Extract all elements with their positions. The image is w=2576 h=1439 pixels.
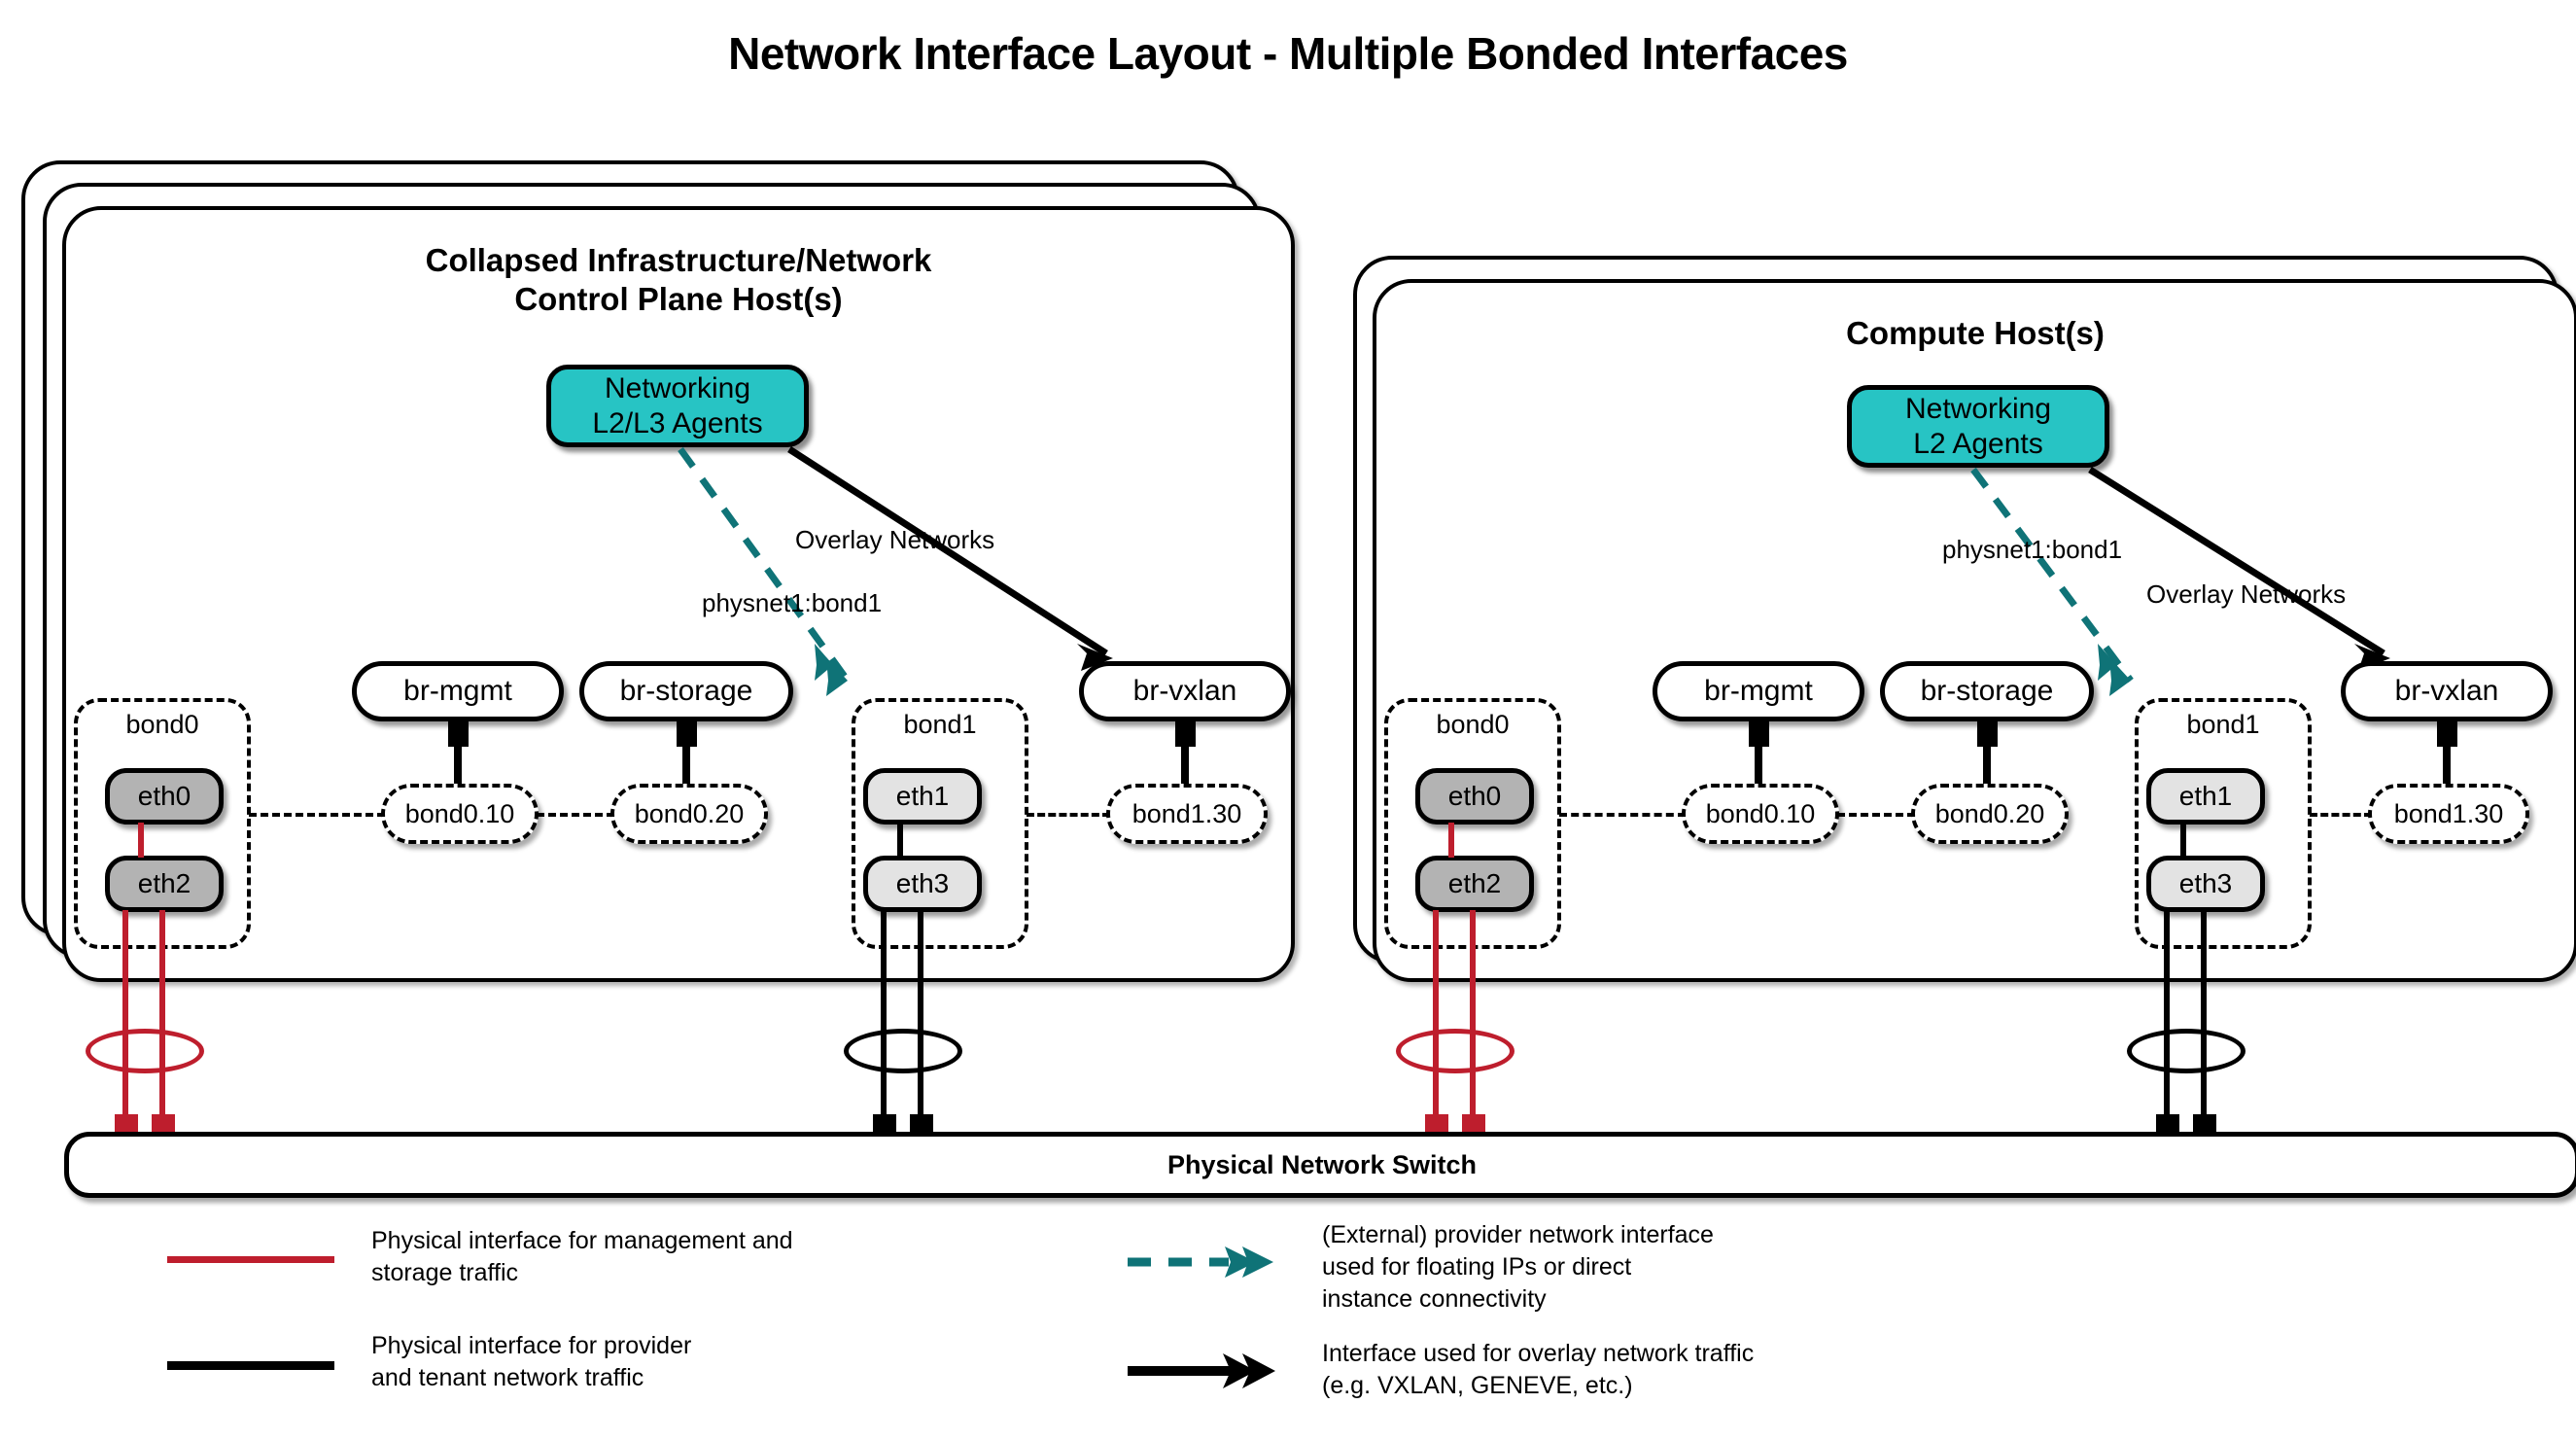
- vlan-bond0-20-right[interactable]: bond0.20: [1911, 784, 2069, 844]
- bridge-br-vxlan-right[interactable]: br-vxlan: [2341, 661, 2553, 721]
- bridge-br-mgmt-right[interactable]: br-mgmt: [1653, 661, 1864, 721]
- edge-label-provider-right: physnet1:bond1: [1942, 535, 2122, 565]
- edge-label-overlay-right: Overlay Networks: [2146, 579, 2346, 610]
- bond-group-label-bond1-right: bond1: [2139, 710, 2308, 740]
- eth-eth1-right[interactable]: eth1: [2146, 768, 2265, 825]
- legend-swatch-solid-black-arrow: [1128, 1351, 1322, 1390]
- legend-swatch-dashed-teal-arrow: [1128, 1243, 1322, 1281]
- legend-swatch-solid-red: [167, 1256, 334, 1263]
- vlan-bond0-10-right[interactable]: bond0.10: [1682, 784, 1839, 844]
- cable-bundle-loop-bond0-right: [1396, 1029, 1514, 1073]
- legend-text-external-provider: (External) provider network interface us…: [1322, 1219, 1866, 1316]
- vlan-bond1-30-right[interactable]: bond1.30: [2368, 784, 2529, 844]
- overlay-edge-line-right: [2090, 470, 2384, 653]
- eth-eth0-right[interactable]: eth0: [1415, 768, 1534, 825]
- provider-edge-line-right: [1973, 470, 2131, 681]
- physical-network-switch[interactable]: Physical Network Switch: [64, 1132, 2576, 1198]
- bond1-internal-link-right: [2180, 823, 2186, 858]
- cable-eth1-right: [2164, 910, 2170, 1126]
- cable-eth3-right: [2201, 910, 2207, 1126]
- legend-text-provider-tenant: Physical interface for provider and tena…: [371, 1330, 877, 1394]
- link-vlan10-to-vlan20-right: [1837, 813, 1915, 817]
- bridge-stem-br-mgmt-right: [1755, 721, 1762, 786]
- legend-text-overlay-traffic: Interface used for overlay network traff…: [1322, 1338, 1905, 1402]
- link-bond1-to-vlan30-right: [2310, 813, 2372, 817]
- bond-group-label-bond0-right: bond0: [1388, 710, 1557, 740]
- eth-eth3-right[interactable]: eth3: [2146, 856, 2265, 912]
- cable-eth0-right: [1433, 910, 1439, 1126]
- legend-text-management-storage: Physical interface for management and st…: [371, 1225, 877, 1289]
- switch-label: Physical Network Switch: [1167, 1150, 1477, 1180]
- eth-eth2-right[interactable]: eth2: [1415, 856, 1534, 912]
- bond0-internal-link-right: [1448, 823, 1454, 858]
- link-bond0-to-vlan10-right: [1559, 813, 1686, 817]
- bridge-br-storage-right[interactable]: br-storage: [1880, 661, 2094, 721]
- cable-eth2-right: [1470, 910, 1476, 1126]
- legend-swatch-solid-black: [167, 1361, 334, 1370]
- bridge-stem-br-vxlan-right: [2443, 721, 2451, 786]
- bridge-stem-br-storage-right: [1983, 721, 1991, 786]
- cable-bundle-loop-bond1-right: [2127, 1029, 2245, 1073]
